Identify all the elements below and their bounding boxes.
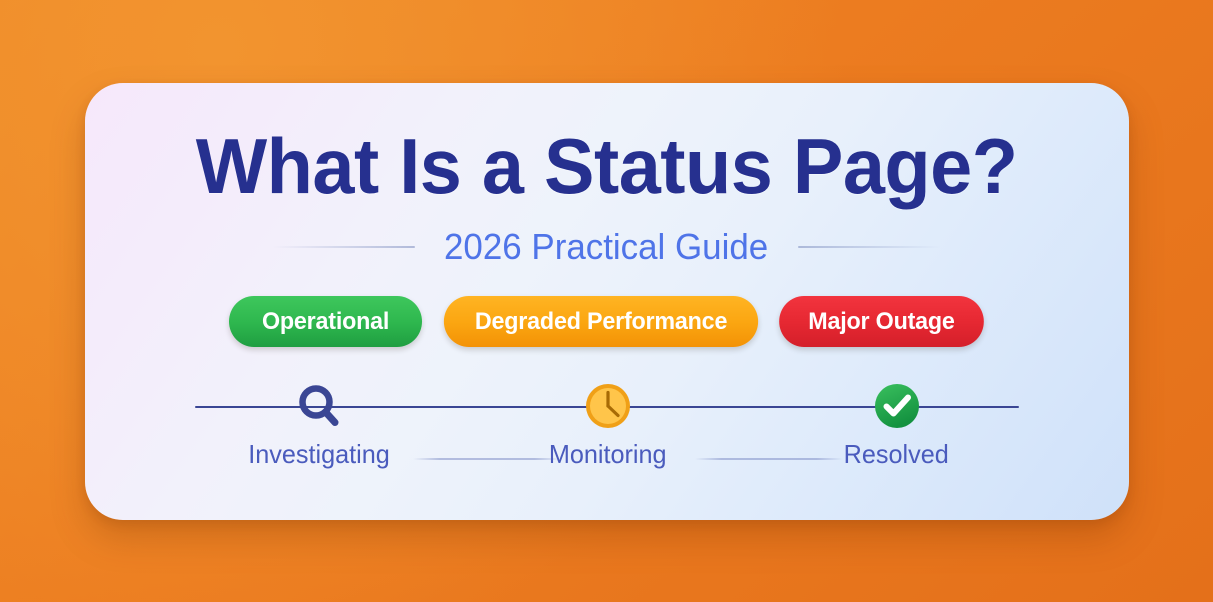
page-title: What Is a Status Page? (196, 127, 1018, 207)
status-pill-row: Operational Degraded Performance Major O… (226, 296, 986, 347)
status-page-card: What Is a Status Page? 2026 Practical Gu… (85, 83, 1129, 520)
clock-icon (580, 378, 636, 434)
status-pill-major-outage[interactable]: Major Outage (779, 296, 984, 347)
timeline-stage-monitoring[interactable]: Monitoring (508, 379, 708, 470)
subtitle-divider-left (273, 246, 415, 248)
subtitle-row: 2026 Practical Guide (85, 226, 1129, 268)
incident-timeline: Investigating Monitoring (195, 379, 1019, 484)
subtitle-divider-right (798, 246, 940, 248)
magnifying-glass-icon (291, 378, 347, 434)
timeline-stage-label: Resolved (844, 439, 949, 470)
check-circle-icon (869, 378, 925, 434)
timeline-stage-label: Monitoring (549, 439, 667, 470)
page-subtitle: 2026 Practical Guide (444, 226, 768, 268)
timeline-stage-resolved[interactable]: Resolved (797, 379, 997, 470)
status-pill-degraded-performance[interactable]: Degraded Performance (443, 296, 757, 347)
timeline-stage-investigating[interactable]: Investigating (219, 379, 419, 470)
status-pill-operational[interactable]: Operational (229, 296, 422, 347)
timeline-stage-label: Investigating (248, 439, 390, 470)
